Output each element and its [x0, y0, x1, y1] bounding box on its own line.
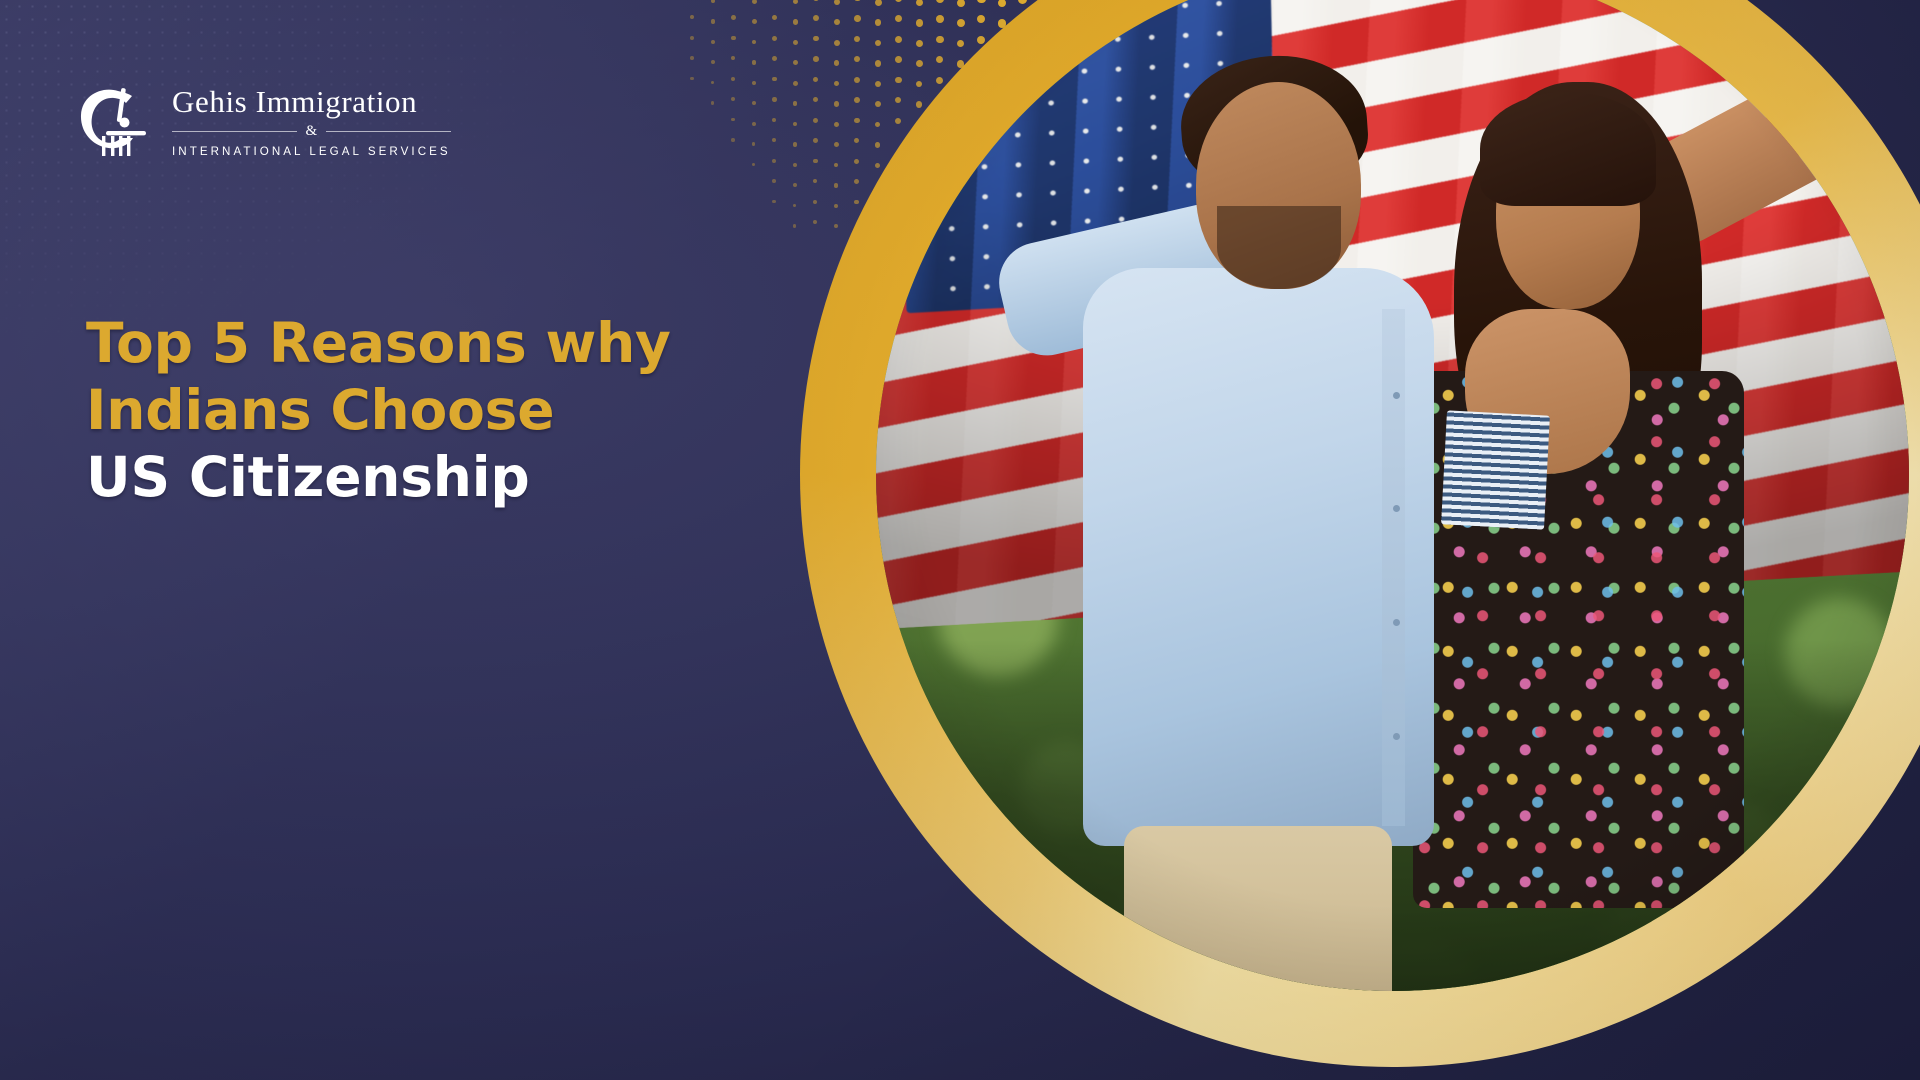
headline-line-3: US Citizenship	[86, 444, 706, 511]
ampersand: &	[306, 124, 318, 139]
headline-line-1: Top 5 Reasons why	[86, 310, 706, 377]
photo-vignette	[876, 0, 1909, 991]
hero-photo	[876, 0, 1909, 991]
divider-rule-right	[326, 131, 451, 132]
hero-banner: Gehis Immigration & INTERNATIONAL LEGAL …	[0, 0, 1920, 1080]
brand-tagline: INTERNATIONAL LEGAL SERVICES	[172, 145, 451, 158]
brand-divider: &	[172, 124, 451, 139]
brand-name: Gehis Immigration	[172, 86, 451, 119]
divider-rule-left	[172, 131, 297, 132]
brand-logo[interactable]: Gehis Immigration & INTERNATIONAL LEGAL …	[72, 78, 451, 162]
gavel-column-monogram-icon	[72, 78, 156, 162]
headline-line-2: Indians Choose	[86, 377, 706, 444]
headline-block: Top 5 Reasons why Indians Choose US Citi…	[86, 310, 706, 510]
brand-logo-text: Gehis Immigration & INTERNATIONAL LEGAL …	[172, 82, 451, 158]
